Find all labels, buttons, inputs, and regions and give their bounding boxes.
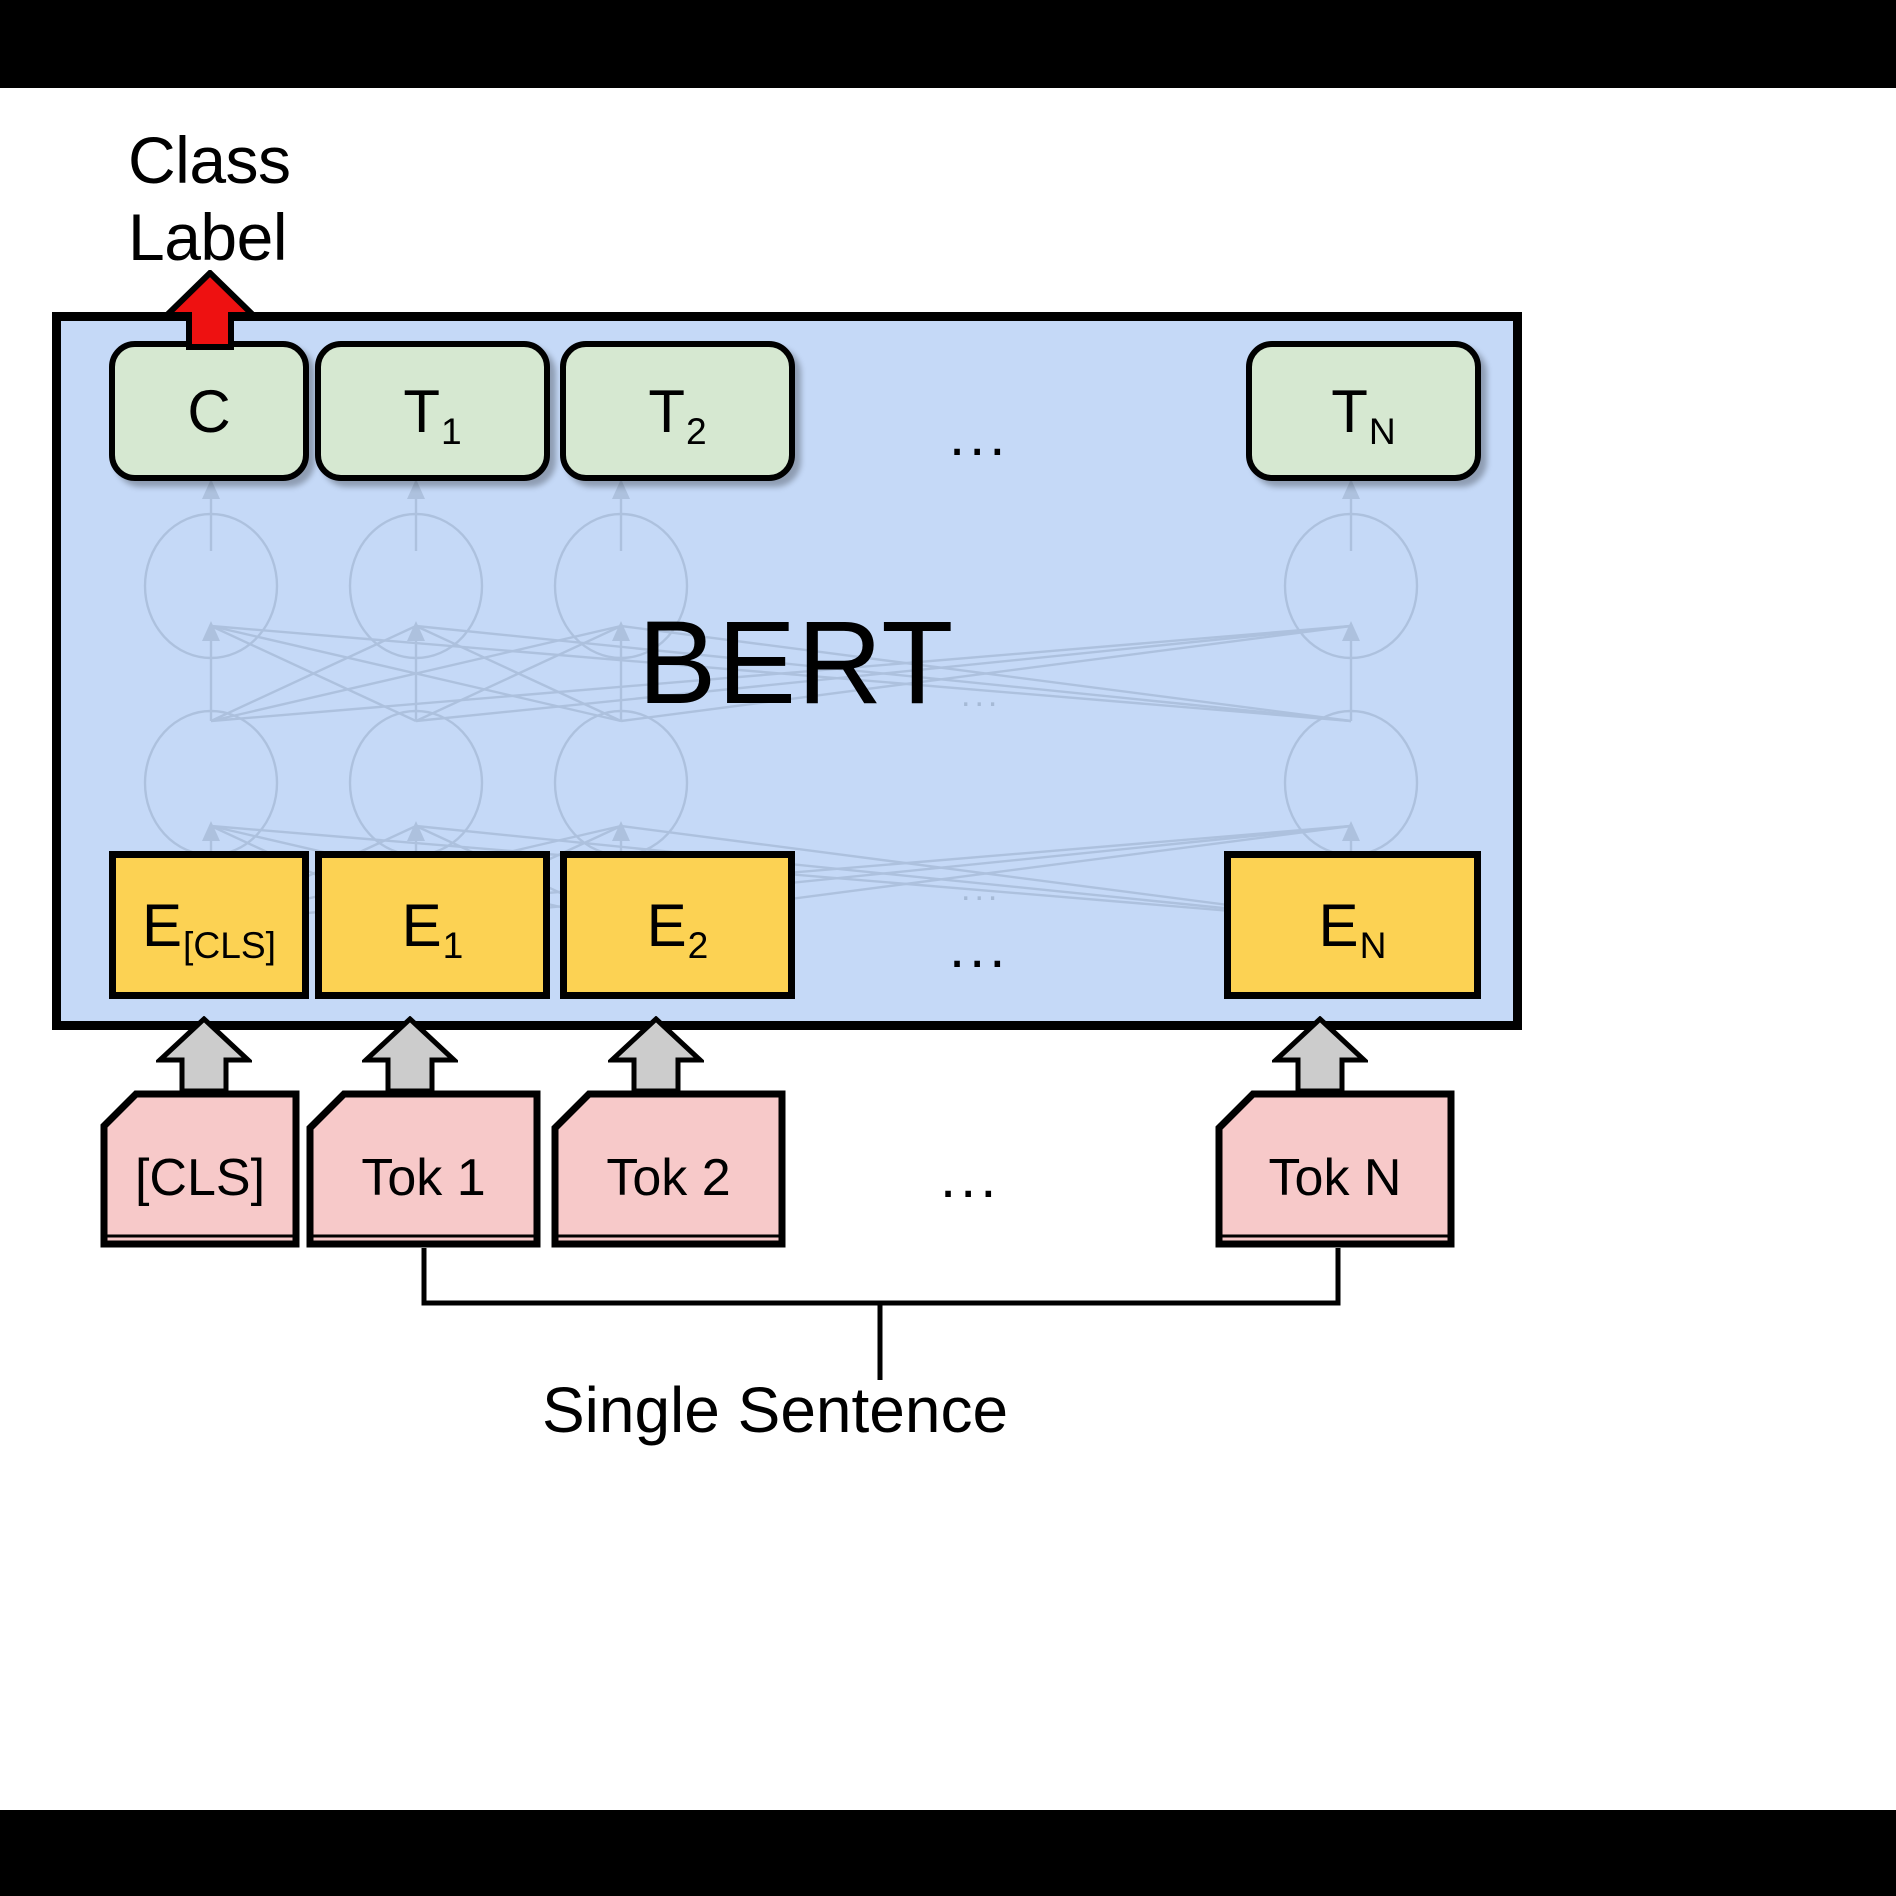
token-box-tok2-label: Tok 2 — [551, 1090, 786, 1248]
token-box-tok1[interactable]: Tok 1 — [306, 1090, 541, 1248]
red-up-arrow-icon — [164, 270, 256, 350]
output-box-t2-label: T2 — [648, 377, 706, 446]
letterbox-bottom — [0, 1810, 1896, 1896]
bert-model-panel: BERT ... ... C T1 T2 TN ... E[CLS] — [52, 312, 1522, 1030]
embedding-box-ecls[interactable]: E[CLS] — [109, 851, 309, 999]
output-box-tn-label: TN — [1331, 377, 1396, 446]
output-box-t1-label: T1 — [403, 377, 461, 446]
single-sentence-label: Single Sentence — [0, 1373, 1550, 1447]
letterbox-top — [0, 0, 1896, 88]
grey-up-arrow-icon-tok2 — [608, 1016, 704, 1094]
grey-up-arrow-icon-tok1 — [362, 1016, 458, 1094]
output-box-c[interactable]: C — [109, 341, 309, 481]
grey-up-arrow-icon-tokn — [1272, 1016, 1368, 1094]
embedding-row-ellipsis: ... — [949, 933, 1009, 962]
grey-up-arrow-icon-cls — [156, 1016, 252, 1094]
token-box-tokn-label: Tok N — [1215, 1090, 1455, 1248]
embedding-box-e1[interactable]: E1 — [315, 851, 550, 999]
output-box-t2[interactable]: T2 — [560, 341, 795, 481]
token-box-tokn[interactable]: Tok N — [1215, 1090, 1455, 1248]
network-ellipsis-upper: ... — [961, 687, 1001, 704]
network-ellipsis-lower: ... — [961, 881, 1001, 898]
embedding-box-en-label: EN — [1319, 891, 1387, 960]
class-label-text: Class Label — [128, 122, 458, 275]
output-box-tn[interactable]: TN — [1246, 341, 1481, 481]
token-row-ellipsis: ... — [940, 1163, 1000, 1192]
embedding-box-ecls-label: E[CLS] — [142, 891, 276, 960]
token-box-tok1-label: Tok 1 — [306, 1090, 541, 1248]
embedding-box-en[interactable]: EN — [1224, 851, 1481, 999]
embedding-box-e1-label: E1 — [402, 891, 464, 960]
output-box-t1[interactable]: T1 — [315, 341, 550, 481]
embedding-box-e2[interactable]: E2 — [560, 851, 795, 999]
output-row-ellipsis: ... — [949, 421, 1009, 450]
output-box-c-label: C — [187, 377, 230, 446]
diagram-canvas: Class Label — [0, 0, 1896, 1896]
token-box-cls[interactable]: [CLS] — [100, 1090, 300, 1248]
diagram-stage: Class Label — [0, 88, 1896, 1810]
embedding-box-e2-label: E2 — [647, 891, 709, 960]
token-box-cls-label: [CLS] — [100, 1090, 300, 1248]
token-box-tok2[interactable]: Tok 2 — [551, 1090, 786, 1248]
